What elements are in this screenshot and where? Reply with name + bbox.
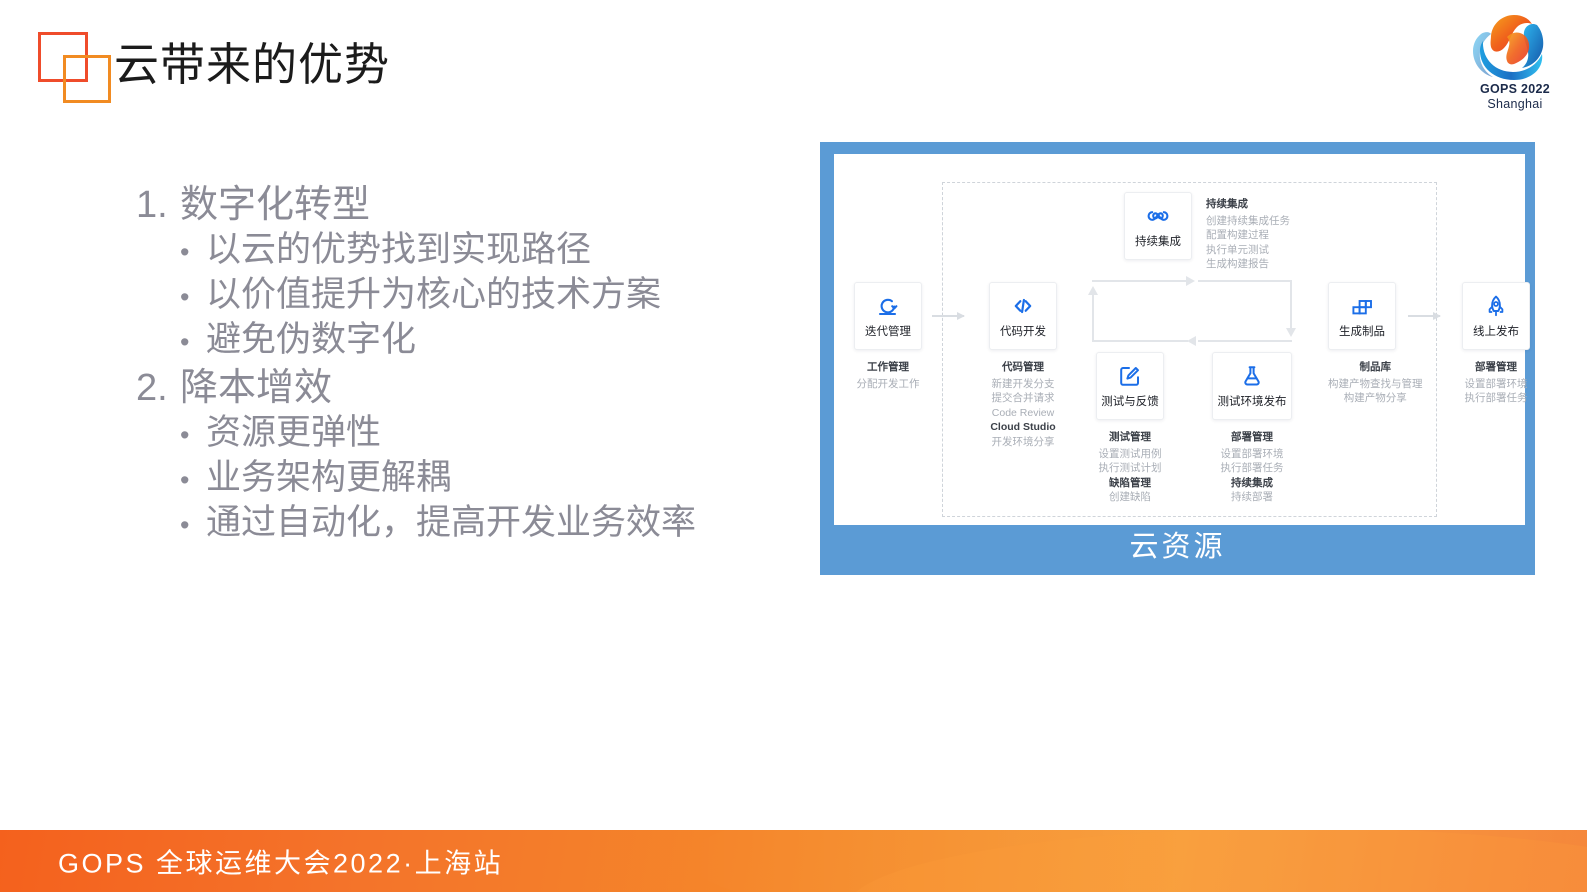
meta-line: 提交合并请求 bbox=[989, 391, 1057, 405]
gops-logo: GOPS 2022 Shanghai bbox=[1461, 8, 1569, 116]
meta-title: 部署管理 bbox=[1212, 429, 1292, 444]
meta-line: 新建开发分支 bbox=[989, 377, 1057, 391]
logo-name: GOPS 2022 bbox=[1461, 82, 1569, 96]
meta-line: 缺陷管理 bbox=[1096, 476, 1164, 490]
meta-title: 测试管理 bbox=[1096, 429, 1164, 444]
list-item-label: 通过自动化，提高开发业务效率 bbox=[206, 501, 746, 546]
blocks-icon bbox=[1350, 294, 1374, 318]
meta-online-release: 部署管理 设置部署环境 执行部署任务 bbox=[1462, 359, 1530, 406]
meta-line: 持续集成 bbox=[1212, 476, 1292, 490]
node-iteration-management[interactable]: 迭代管理 工作管理 分配开发工作 bbox=[854, 282, 922, 391]
loop-right-segment bbox=[1290, 280, 1292, 330]
cycle-loop-arrows bbox=[1092, 280, 1292, 342]
sub-bullet-list: • 资源更弹性 • 业务架构更解耦 • 通过自动化，提高开发业务效率 bbox=[180, 411, 746, 545]
meta-title: 制品库 bbox=[1328, 359, 1423, 374]
loop-arrowhead-down-icon bbox=[1286, 328, 1296, 337]
bullet-dot-icon: • bbox=[180, 422, 206, 449]
loop-arrowhead-left-icon bbox=[1187, 336, 1196, 346]
meta-build-artifact: 制品库 构建产物查找与管理 构建产物分享 bbox=[1328, 359, 1423, 406]
meta-line: 执行部署任务 bbox=[1462, 391, 1530, 405]
meta-title: 工作管理 bbox=[854, 359, 922, 374]
meta-line: 持续部署 bbox=[1212, 490, 1292, 504]
meta-test-feedback: 测试管理 设置测试用例 执行测试计划 缺陷管理 创建缺陷 bbox=[1096, 429, 1164, 505]
loop-left-segment bbox=[1092, 294, 1094, 342]
list-item-label: 资源更弹性 bbox=[206, 411, 746, 456]
meta-line: 创建缺陷 bbox=[1096, 490, 1164, 504]
meta-test-env-release: 部署管理 设置部署环境 执行部署任务 持续集成 持续部署 bbox=[1212, 429, 1292, 505]
bullet-dot-icon: • bbox=[180, 284, 206, 311]
section-heading-row: 1. 数字化转型 bbox=[136, 182, 746, 228]
bullet-content: 1. 数字化转型 • 以云的优势找到实现路径 • 以价值提升为核心的技术方案 •… bbox=[136, 182, 746, 548]
meta-line: 构建产物分享 bbox=[1328, 391, 1423, 405]
meta-line: 分配开发工作 bbox=[854, 377, 922, 391]
meta-line: Code Review bbox=[989, 406, 1057, 420]
node-test-env-release[interactable]: 测试环境发布 部署管理 设置部署环境 执行部署任务 持续集成 持续部署 bbox=[1212, 352, 1292, 505]
bullet-dot-icon: • bbox=[180, 512, 206, 539]
meta-line: 创建持续集成任务 bbox=[1206, 214, 1290, 228]
node-caption: 生成制品 bbox=[1339, 323, 1385, 339]
loop-top-right-segment bbox=[1198, 280, 1292, 282]
meta-line: 设置部署环境 bbox=[1212, 447, 1292, 461]
refresh-cycle-icon bbox=[876, 294, 900, 318]
dashed-divider-left bbox=[942, 182, 943, 517]
slide-root: 云带来的优势 1. 数字化转型 • 以云的优势找到实现路径 • 以价值提升为核心… bbox=[0, 0, 1587, 892]
loop-arrowhead-right-icon bbox=[1186, 276, 1195, 286]
node-card[interactable]: 迭代管理 bbox=[854, 282, 922, 350]
node-card[interactable]: 持续集成 bbox=[1124, 192, 1192, 260]
bullet-dot-icon: • bbox=[180, 329, 206, 356]
meta-line: 设置测试用例 bbox=[1096, 447, 1164, 461]
node-card[interactable]: 代码开发 bbox=[989, 282, 1057, 350]
code-brackets-icon bbox=[1011, 294, 1035, 318]
list-item-label: 以价值提升为核心的技术方案 bbox=[206, 273, 746, 318]
meta-line: 执行部署任务 bbox=[1212, 461, 1292, 475]
list-item: • 业务架构更解耦 bbox=[180, 456, 746, 501]
node-caption: 持续集成 bbox=[1135, 233, 1181, 249]
node-code-development[interactable]: 代码开发 代码管理 新建开发分支 提交合并请求 Code Review Clou… bbox=[989, 282, 1057, 449]
numbered-section-2: 2. 降本增效 • 资源更弹性 • 业务架构更解耦 • 通过自动化，提高开发业务… bbox=[136, 365, 746, 546]
node-caption: 测试与反馈 bbox=[1101, 393, 1159, 409]
loop-top-left-segment bbox=[1092, 280, 1188, 282]
node-card[interactable]: 测试与反馈 bbox=[1096, 352, 1164, 420]
decorative-squares-mark bbox=[36, 28, 114, 102]
node-caption: 代码开发 bbox=[1000, 323, 1046, 339]
list-item: • 资源更弹性 bbox=[180, 411, 746, 456]
logo-city: Shanghai bbox=[1461, 97, 1569, 111]
edit-square-icon bbox=[1118, 364, 1142, 388]
list-item: • 通过自动化，提高开发业务效率 bbox=[180, 501, 746, 546]
node-test-feedback[interactable]: 测试与反馈 测试管理 设置测试用例 执行测试计划 缺陷管理 创建缺陷 bbox=[1096, 352, 1164, 505]
node-caption: 迭代管理 bbox=[865, 323, 911, 339]
meta-line: 开发环境分享 bbox=[989, 435, 1057, 449]
meta-line: Cloud Studio bbox=[989, 420, 1057, 434]
gops-swirl-icon bbox=[1461, 8, 1569, 82]
flask-icon bbox=[1240, 364, 1264, 388]
meta-line: 执行测试计划 bbox=[1096, 461, 1164, 475]
meta-line: 构建产物查找与管理 bbox=[1328, 377, 1423, 391]
node-card[interactable]: 线上发布 bbox=[1462, 282, 1530, 350]
meta-title: 部署管理 bbox=[1462, 359, 1530, 374]
loop-bottom-left-segment bbox=[1092, 340, 1188, 342]
meta-line: 配置构建过程 bbox=[1206, 228, 1290, 242]
arrow-iteration-to-code-icon bbox=[932, 315, 964, 317]
list-item: • 以价值提升为核心的技术方案 bbox=[180, 273, 746, 318]
meta-title: 持续集成 bbox=[1206, 196, 1290, 211]
meta-title: 代码管理 bbox=[989, 359, 1057, 374]
meta-line: 执行单元测试 bbox=[1206, 243, 1290, 257]
node-continuous-integration[interactable]: 持续集成 bbox=[1124, 192, 1192, 260]
node-caption: 测试环境发布 bbox=[1218, 393, 1287, 409]
list-item: • 以云的优势找到实现路径 bbox=[180, 228, 746, 273]
node-caption: 线上发布 bbox=[1473, 323, 1519, 339]
square-orange-icon bbox=[63, 55, 111, 103]
list-item-label: 避免伪数字化 bbox=[206, 318, 746, 363]
section-heading-row: 2. 降本增效 bbox=[136, 365, 746, 411]
loop-bottom-right-segment bbox=[1198, 340, 1292, 342]
meta-continuous-integration: 持续集成 创建持续集成任务 配置构建过程 执行单元测试 生成构建报告 bbox=[1206, 196, 1290, 272]
cloud-resource-label: 云资源 bbox=[820, 513, 1535, 575]
numbered-section-1: 1. 数字化转型 • 以云的优势找到实现路径 • 以价值提升为核心的技术方案 •… bbox=[136, 182, 746, 363]
node-card[interactable]: 生成制品 bbox=[1328, 282, 1396, 350]
sub-bullet-list: • 以云的优势找到实现路径 • 以价值提升为核心的技术方案 • 避免伪数字化 bbox=[180, 228, 746, 362]
bullet-dot-icon: • bbox=[180, 239, 206, 266]
list-item-label: 业务架构更解耦 bbox=[206, 456, 746, 501]
meta-iteration-management: 工作管理 分配开发工作 bbox=[854, 359, 922, 391]
devops-pipeline-diagram: 持续集成 持续集成 创建持续集成任务 配置构建过程 执行单元测试 生成构建报告 bbox=[820, 142, 1535, 575]
rocket-icon bbox=[1484, 294, 1508, 318]
bullet-dot-icon: • bbox=[180, 467, 206, 494]
diagram-canvas: 持续集成 持续集成 创建持续集成任务 配置构建过程 执行单元测试 生成构建报告 bbox=[834, 154, 1525, 525]
page-title: 云带来的优势 bbox=[114, 40, 390, 90]
meta-line: 生成构建报告 bbox=[1206, 257, 1290, 271]
node-online-release[interactable]: 线上发布 部署管理 设置部署环境 执行部署任务 bbox=[1462, 282, 1530, 406]
meta-code-development: 代码管理 新建开发分支 提交合并请求 Code Review Cloud Stu… bbox=[989, 359, 1057, 449]
section-heading: 数字化转型 bbox=[180, 182, 370, 228]
section-number: 2. bbox=[136, 365, 180, 411]
node-build-artifact[interactable]: 生成制品 制品库 构建产物查找与管理 构建产物分享 bbox=[1328, 282, 1423, 406]
dashed-divider-right bbox=[1436, 182, 1437, 517]
section-number: 1. bbox=[136, 182, 180, 228]
infinity-icon bbox=[1146, 204, 1170, 228]
list-item-label: 以云的优势找到实现路径 bbox=[206, 228, 746, 273]
footer-bar: GOPS 全球运维大会2022·上海站 bbox=[0, 830, 1587, 892]
list-item: • 避免伪数字化 bbox=[180, 318, 746, 363]
loop-arrowhead-up-icon bbox=[1088, 286, 1098, 295]
node-card[interactable]: 测试环境发布 bbox=[1212, 352, 1292, 420]
section-heading: 降本增效 bbox=[180, 365, 332, 411]
arrow-artifact-to-release-icon bbox=[1408, 315, 1440, 317]
slide-header: 云带来的优势 bbox=[36, 28, 390, 102]
footer-label: GOPS 全球运维大会2022·上海站 bbox=[58, 842, 503, 881]
meta-line: 设置部署环境 bbox=[1462, 377, 1530, 391]
